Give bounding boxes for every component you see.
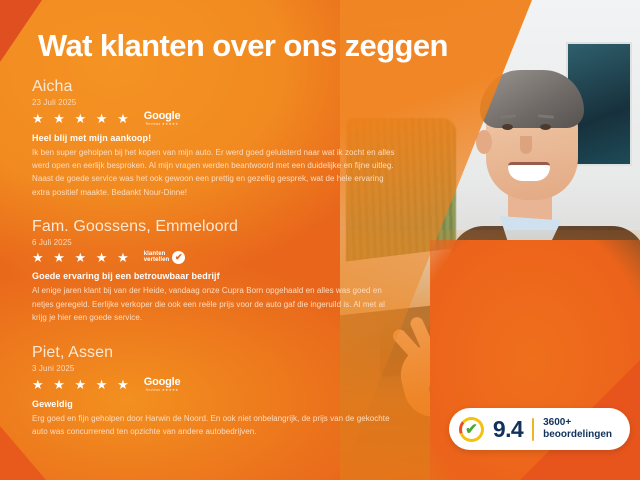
rating-count-label: beoordelingen [543, 429, 612, 441]
review-card: Piet, Assen 3 Juni 2025 ★ ★ ★ ★ ★ Google… [32, 344, 400, 438]
star-rating: ★ ★ ★ ★ ★ [32, 378, 132, 391]
star-rating: ★ ★ ★ ★ ★ [32, 251, 132, 264]
review-body: Ik ben super geholpen bij het kopen van … [32, 146, 400, 199]
review-title: Geweldig [32, 399, 400, 409]
review-card: Aicha 23 Juli 2025 ★ ★ ★ ★ ★ Google Revi… [32, 78, 400, 199]
overall-rating-badge[interactable]: ✔ 9.4 3600+ beoordelingen [449, 408, 630, 450]
reviewer-name: Aicha [32, 78, 400, 96]
google-logo-text: Google [144, 377, 181, 388]
reviewer-name: Fam. Goossens, Emmeloord [32, 218, 400, 236]
review-date: 3 Juni 2025 [32, 364, 400, 373]
review-body: Erg goed en fijn geholpen door Harwin de… [32, 412, 400, 438]
content-column: Wat klanten over ons zeggen Aicha 23 Jul… [0, 0, 420, 480]
google-logo-text: Google [144, 111, 181, 122]
google-reviews-subtext: Reviews ★★★★★ [146, 389, 179, 392]
review-date: 23 Juli 2025 [32, 98, 400, 107]
review-meta: ★ ★ ★ ★ ★ Google Reviews ★★★★★ [32, 111, 400, 126]
review-title: Goede ervaring bij een betrouwbaar bedri… [32, 271, 400, 281]
person-nose [520, 136, 532, 154]
seal-check: ✔ [462, 420, 481, 439]
review-date: 6 Juli 2025 [32, 238, 400, 247]
checkmark-circle-icon: ✔ [172, 251, 185, 264]
review-meta: ★ ★ ★ ★ ★ klanten vertellen ✔ [32, 251, 400, 265]
klantenvertellen-line2: vertellen [144, 257, 170, 264]
klantenvertellen-seal-icon: ✔ [459, 417, 484, 442]
promo-banner: VDH Wat klanten over ons zeggen Aicha 23… [0, 0, 640, 480]
reviewer-name: Piet, Assen [32, 344, 400, 362]
rating-count: 3600+ [543, 417, 612, 429]
review-meta: ★ ★ ★ ★ ★ Google Reviews ★★★★★ [32, 377, 400, 392]
page-title: Wat klanten over ons zeggen [38, 28, 448, 64]
review-body: Al enige jaren klant bij van der Heide, … [32, 284, 400, 324]
klantenvertellen-label: klanten vertellen [144, 251, 170, 265]
star-rating: ★ ★ ★ ★ ★ [32, 112, 132, 125]
person-eye-left [502, 124, 513, 130]
rating-count-block: 3600+ beoordelingen [543, 417, 612, 441]
google-reviews-subtext: Reviews ★★★★★ [146, 123, 179, 126]
google-reviews-badge: Google Reviews ★★★★★ [144, 377, 181, 392]
person-smile [508, 162, 550, 181]
badge-divider [532, 418, 534, 441]
klantenvertellen-line1: klanten [144, 251, 170, 258]
person-eye-right [540, 124, 551, 130]
rating-score: 9.4 [493, 418, 523, 441]
klantenvertellen-badge: klanten vertellen ✔ [144, 251, 186, 265]
review-card: Fam. Goossens, Emmeloord 6 Juli 2025 ★ ★… [32, 218, 400, 324]
check-glyph: ✔ [465, 422, 478, 437]
review-title: Heel blij met mijn aankoop! [32, 133, 400, 143]
google-reviews-badge: Google Reviews ★★★★★ [144, 111, 181, 126]
